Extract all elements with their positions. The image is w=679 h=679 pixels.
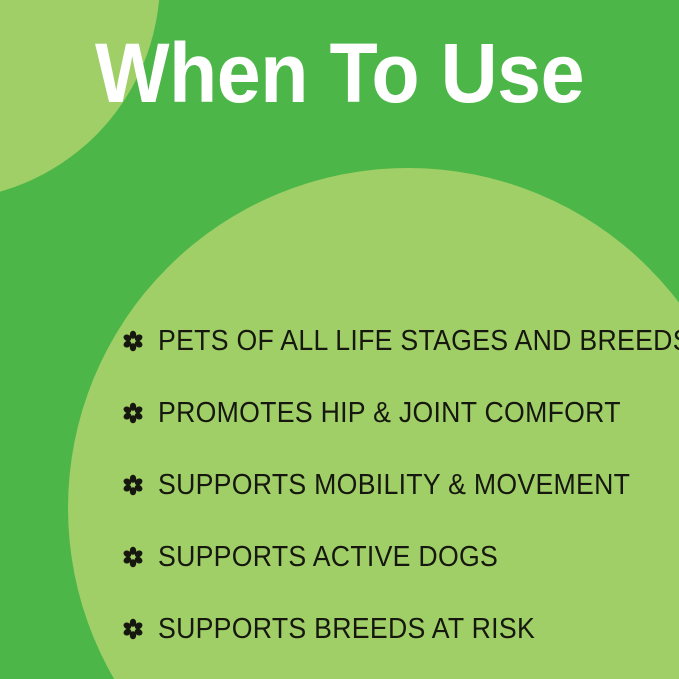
- list-item: PROMOTES HIP & JOINT COMFORT: [122, 377, 667, 449]
- list-item: SUPPORTS ACTIVE DOGS: [122, 521, 667, 593]
- list-item-label: PROMOTES HIP & JOINT COMFORT: [158, 397, 626, 429]
- list-item: SUPPORTS MOBILITY & MOVEMENT: [122, 449, 667, 521]
- list-item-label: SUPPORTS BREEDS AT RISK: [158, 613, 626, 645]
- content-layer: When To Use PETS OF ALL LIFE STAGES AND …: [0, 0, 679, 679]
- list-item-label: SUPPORTS MOBILITY & MOVEMENT: [158, 469, 630, 501]
- flower-asterisk-icon: [122, 330, 144, 352]
- flower-asterisk-icon: [122, 474, 144, 496]
- list-item-label: PETS OF ALL LIFE STAGES AND BREEDS: [158, 325, 679, 357]
- list-item: SUPPORTS BREEDS AT RISK: [122, 593, 667, 665]
- list-item-label: SUPPORTS ACTIVE DOGS: [158, 541, 626, 573]
- page-title: When To Use: [20, 26, 658, 120]
- list-item: PETS OF ALL LIFE STAGES AND BREEDS: [122, 305, 667, 377]
- flower-asterisk-icon: [122, 402, 144, 424]
- benefits-list: PETS OF ALL LIFE STAGES AND BREEDS PROMO…: [122, 305, 667, 665]
- flower-asterisk-icon: [122, 546, 144, 568]
- flower-asterisk-icon: [122, 618, 144, 640]
- when-to-use-infographic: When To Use PETS OF ALL LIFE STAGES AND …: [0, 0, 679, 679]
